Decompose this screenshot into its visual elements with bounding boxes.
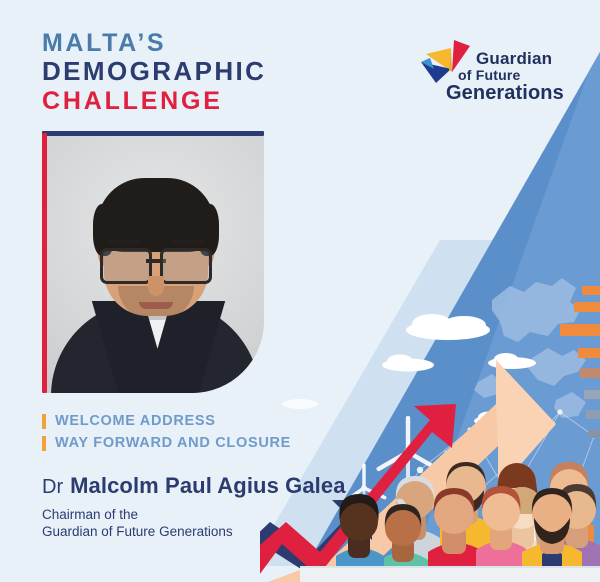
portrait-glasses (100, 248, 212, 278)
role-marker-icon (42, 436, 46, 451)
title-line-2: DEMOGRAPHIC (42, 56, 266, 86)
logo-mark-icon (418, 38, 474, 92)
guardian-of-future-generations-logo: Guardian of Future Generations (418, 38, 564, 103)
glasses-lens-right (160, 248, 212, 284)
glasses-lens-left (100, 248, 152, 284)
ground-strip (300, 566, 600, 582)
speaker-honorific: Dr (42, 476, 63, 499)
portrait-nose (148, 276, 164, 296)
role-item: WELCOME ADDRESS (42, 413, 291, 429)
logo-wordmark: Guardian of Future Generations (476, 38, 564, 103)
role-item: WAY FORWARD AND CLOSURE (42, 435, 291, 451)
portrait-brow-left (108, 240, 140, 245)
logo-line-1: Guardian (476, 50, 564, 67)
speaker-photo-frame (42, 131, 264, 393)
poster-canvas: MALTA’S DEMOGRAPHIC CHALLENGE Guardian o… (0, 0, 600, 582)
speaker-name: Malcolm Paul Agius Galea (70, 473, 345, 499)
role-label: WAY FORWARD AND CLOSURE (55, 435, 291, 451)
title-line-3: CHALLENGE (42, 86, 266, 116)
speaker-details: Dr Malcolm Paul Agius Galea Chairman of … (42, 473, 346, 540)
poster-title: MALTA’S DEMOGRAPHIC CHALLENGE (42, 30, 266, 116)
role-marker-icon (42, 414, 46, 429)
session-roles-list: WELCOME ADDRESS WAY FORWARD AND CLOSURE (42, 413, 291, 457)
speaker-photo (47, 136, 264, 393)
speaker-name-line: Dr Malcolm Paul Agius Galea (42, 473, 346, 499)
portrait-mouth (139, 302, 173, 309)
speaker-role-line-1: Chairman of the (42, 506, 346, 523)
role-label: WELCOME ADDRESS (55, 413, 216, 429)
speaker-role: Chairman of the Guardian of Future Gener… (42, 506, 346, 540)
portrait-brow-right (172, 240, 204, 245)
title-line-1: MALTA’S (42, 30, 266, 56)
speaker-role-line-2: Guardian of Future Generations (42, 523, 346, 540)
